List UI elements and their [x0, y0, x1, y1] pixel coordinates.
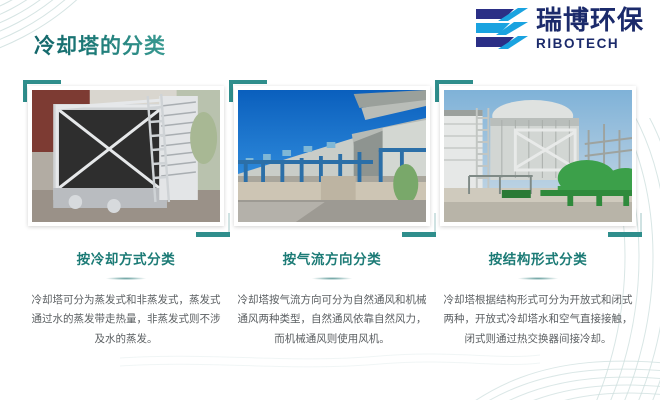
corner-accent-bar-icon: [608, 232, 642, 237]
card-image-frame: [28, 86, 224, 226]
card-heading: 按结构形式分类: [440, 248, 636, 268]
corner-accent-bar-icon: [402, 232, 436, 237]
card-body-text: 冷却塔按气流方向可分为自然通风和机械通风两种类型，自然通风依靠自然风力，而机械通…: [234, 291, 430, 349]
card-body-text: 冷却塔根据结构形式可分为开放式和闭式两种，开放式冷却塔水和空气直接接触，闭式则通…: [440, 291, 636, 349]
brand-logo: 瑞博环保 RIBOTECH: [474, 6, 644, 52]
card-cooling-method: 按冷却方式分类 冷却塔可分为蒸发式和非蒸发式，蒸发式通过水的蒸发带走热量，非蒸发…: [28, 86, 224, 349]
ribotech-logo-mark-icon: [474, 6, 530, 52]
card-airflow-direction: 按气流方向分类 冷却塔按气流方向可分为自然通风和机械通风两种类型，自然通风依靠自…: [234, 86, 430, 349]
card-image-frame: [234, 86, 430, 226]
closed-circuit-cooling-tower-photo[interactable]: [28, 86, 224, 226]
card-heading: 按气流方向分类: [234, 248, 430, 268]
heading-divider: [312, 277, 352, 280]
heading-divider: [106, 277, 146, 280]
page-title: 冷却塔的分类: [34, 30, 166, 60]
bottom-faint-lines-decoration: [120, 352, 540, 378]
logo-english-name: RIBOTECH: [536, 37, 644, 51]
heading-divider: [518, 277, 558, 280]
card-heading: 按冷却方式分类: [28, 248, 224, 268]
cooling-tower-plant-photo[interactable]: [440, 86, 636, 226]
card-structure-type: 按结构形式分类 冷却塔根据结构形式可分为开放式和闭式两种，开放式冷却塔水和空气直…: [440, 86, 636, 349]
card-body-text: 冷却塔可分为蒸发式和非蒸发式，蒸发式通过水的蒸发带走热量，非蒸发式则不涉及水的蒸…: [28, 291, 224, 349]
classification-card-list: 按冷却方式分类 冷却塔可分为蒸发式和非蒸发式，蒸发式通过水的蒸发带走热量，非蒸发…: [28, 86, 636, 349]
logo-chinese-name: 瑞博环保: [536, 8, 644, 34]
corner-accent-bar-icon: [196, 232, 230, 237]
slide-canvas: 瑞博环保 RIBOTECH 冷却塔的分类: [0, 0, 660, 400]
industrial-cooling-tower-row-photo[interactable]: [234, 86, 430, 226]
card-image-frame: [440, 86, 636, 226]
